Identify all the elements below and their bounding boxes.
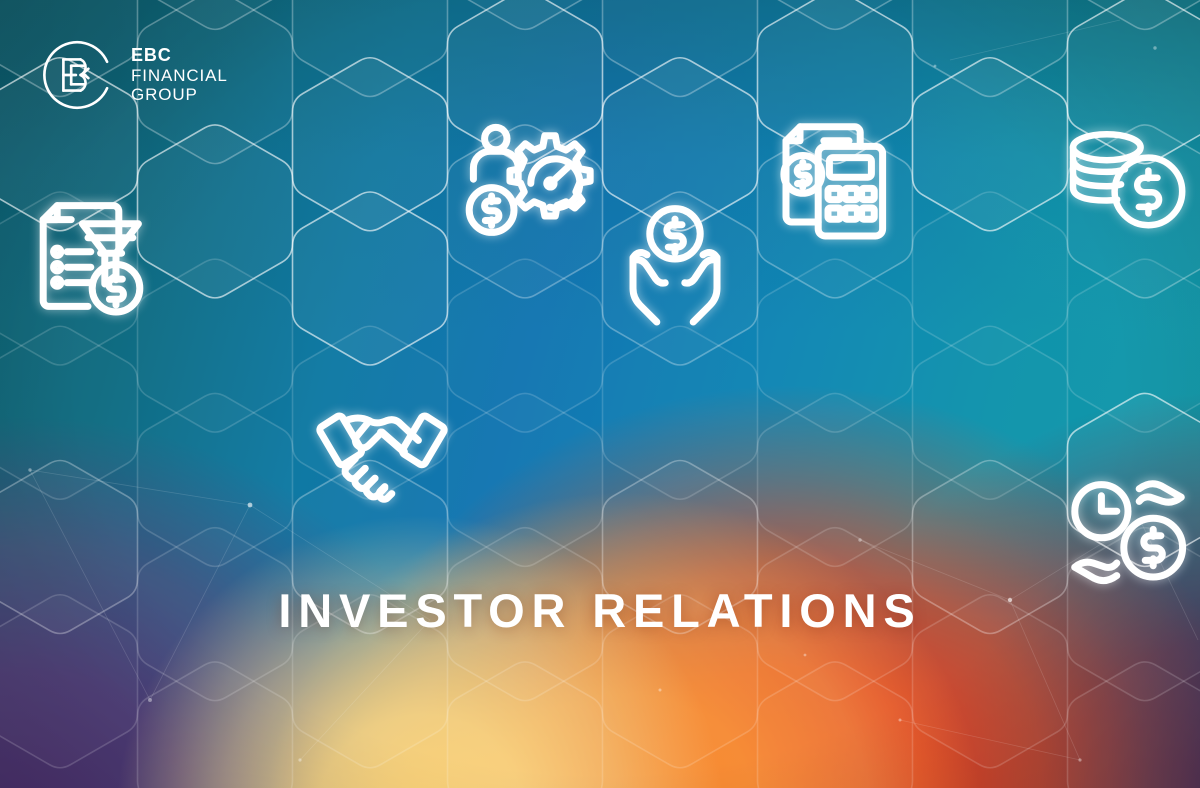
particle-constellation [0,0,1200,788]
ebc-monogram-icon [40,36,118,114]
page-title: INVESTOR RELATIONS [0,583,1200,638]
document-funnel-dollar-icon [18,186,158,326]
brand-wordmark: EBC FINANCIAL GROUP [131,45,228,104]
investor-profile-gear-speedometer-icon [458,112,598,252]
stacked-coins-dollar-icon [1060,116,1190,246]
handshake-icon [312,376,452,516]
hands-holding-dollar-coin-icon [605,196,745,336]
brand-line-ebc: EBC [131,45,228,66]
clock-hands-dollar-exchange-icon [1058,458,1198,598]
investor-relations-banner: EBC FINANCIAL GROUP INVESTOR RELATIONS [0,0,1200,788]
invoice-calculator-dollar-icon [765,110,905,250]
brand-line-financial: FINANCIAL [131,66,228,85]
brand-logo[interactable]: EBC FINANCIAL GROUP [40,36,228,114]
brand-line-group: GROUP [131,85,228,104]
